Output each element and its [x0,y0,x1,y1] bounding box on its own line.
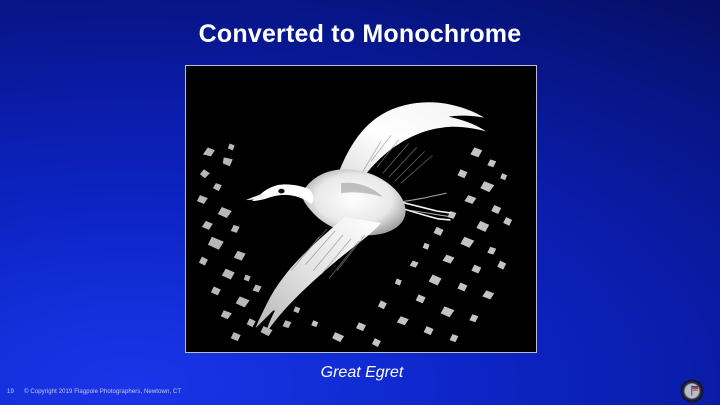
photo-caption: Great Egret [186,363,538,383]
slide-title: Converted to Monochrome [0,19,720,49]
egret-eye [278,189,284,194]
monochrome-egret-photo [186,66,536,352]
photo-frame [185,65,537,353]
flagpole-photographers-seal-icon [680,379,704,403]
copyright-notice: © Copyright 2019 Flagpole Photographers,… [24,388,181,397]
presentation-slide: Converted to Monochrome [0,0,720,405]
slide-page-number: 19 [7,388,14,397]
slide-footer: 19 © Copyright 2019 Flagpole Photographe… [7,387,181,398]
